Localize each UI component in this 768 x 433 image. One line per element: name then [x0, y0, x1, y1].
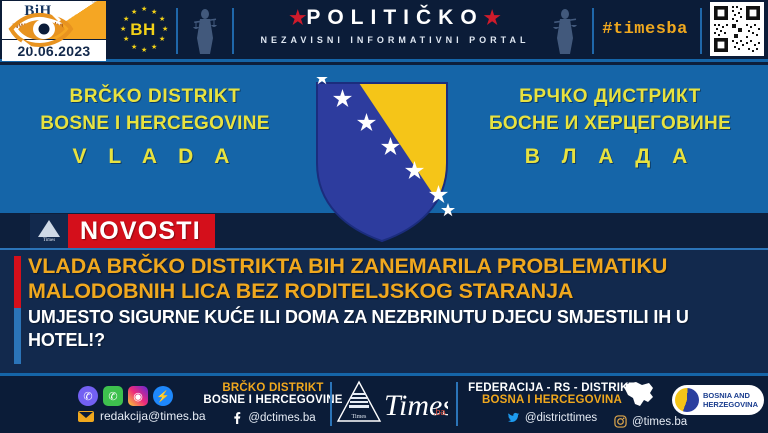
triangle-mark: [38, 220, 60, 237]
page-title: POLITIČKO: [306, 6, 483, 29]
envelope-icon: [78, 411, 94, 422]
times-logo-caption: Times: [43, 238, 55, 243]
gov-name-cyrillic: БРЧКО ДИСТРИКТ БОСНЕ И ХЕРЦЕГОВИНЕ В Л А…: [470, 83, 750, 173]
accent-bar-blue: [14, 308, 21, 364]
gov-name-latin: BRČKO DISTRIKT BOSNE I HERCEGOVINE V L A…: [20, 83, 290, 173]
eu-bh-emblem: ★ ★ ★ ★ ★ ★ ★ ★ ★ ★ ★ ★ BH: [118, 5, 168, 55]
country-pill-line2: HERZEGOVINA: [703, 400, 758, 409]
article-subheadline: UMJESTO SIGURNE KUĆE ILI DOMA ZA NEZBRIN…: [28, 306, 758, 352]
country-pill-text: BOSNIA AND HERZEGOVINA: [703, 391, 758, 409]
eye-logo-icon: [8, 8, 74, 50]
times-triangle-logo-icon: Times: [30, 214, 68, 248]
footer-divider: [456, 382, 458, 426]
instagram-icon: [614, 415, 627, 428]
footer-divider: [330, 382, 332, 426]
government-banner: BRČKO DISTRIKT BOSNE I HERCEGOVINE V L A…: [0, 65, 768, 213]
gov-cyrillic-line3: В Л А Д А: [470, 141, 750, 173]
messenger-icon[interactable]: ⚡: [153, 386, 173, 406]
eu-bh-label: BH: [118, 5, 168, 55]
bosnia-herzegovina-coat-of-arms: [309, 77, 455, 247]
footer-brcko-line2: BOSNE I HERCEGOVINE: [198, 394, 348, 406]
viber-icon[interactable]: ✆: [78, 386, 98, 406]
brand-subtitle: NEZAVISNI INFORMATIVNI PORTAL: [245, 35, 545, 45]
country-pill-line1: BOSNIA AND: [703, 391, 750, 400]
brand-title-block: ★POLITIČKO★ NEZAVISNI INFORMATIVNI PORTA…: [245, 6, 545, 45]
bosnia-map-icon: [620, 380, 660, 412]
article-headline-zone: VLADA BRČKO DISTRIKTA BIH ZANEMARILA PRO…: [0, 248, 768, 373]
twitter-handle: @districttimes: [525, 412, 597, 424]
svg-text:Times: Times: [384, 389, 448, 422]
svg-text:Times: Times: [352, 414, 367, 420]
bosnia-flag-circle-icon: [675, 388, 699, 412]
instagram-icon[interactable]: ◉: [128, 386, 148, 406]
country-pill-badge: BOSNIA AND HERZEGOVINA: [672, 385, 764, 415]
gov-latin-line3: V L A D A: [20, 141, 290, 173]
star-left-icon: ★: [289, 8, 306, 29]
facebook-handle-row[interactable]: @dctimes.ba: [198, 411, 348, 424]
footer-brcko-line1: BRČKO DISTRIKT: [198, 382, 348, 394]
news-graphic-page: ★★★★★★★★★ BiH www.times.ba 20.06.2023 ★ …: [0, 0, 768, 433]
article-headline: VLADA BRČKO DISTRIKTA BIH ZANEMARILA PRO…: [28, 254, 754, 304]
header-divider: [592, 8, 594, 54]
email-row[interactable]: redakcija@times.ba: [78, 409, 206, 423]
brand-title-row: ★POLITIČKO★: [245, 6, 545, 30]
justice-statue-icon: [548, 6, 582, 56]
gov-cyrillic-line2: БОСНЕ И ХЕРЦЕГОВИНЕ: [470, 110, 750, 137]
instagram-handle-row[interactable]: @times.ba: [614, 415, 687, 428]
email-address: redakcija@times.ba: [100, 409, 206, 423]
facebook-handle: @dctimes.ba: [248, 412, 315, 424]
footer-federacija-line2: BOSNA I HERCEGOVINA: [462, 394, 642, 406]
news-category-label: NOVOSTI: [68, 214, 215, 248]
facebook-icon: [230, 411, 243, 424]
social-icons-row[interactable]: ✆ ✆ ◉ ⚡: [78, 386, 173, 406]
news-category-badge[interactable]: Times NOVOSTI: [30, 214, 215, 248]
accent-bar: [14, 256, 21, 364]
instagram-handle: @times.ba: [632, 416, 687, 428]
gov-latin-line2: BOSNE I HERCEGOVINE: [20, 110, 290, 137]
top-header-bar: ★★★★★★★★★ BiH www.times.ba 20.06.2023 ★ …: [0, 0, 768, 62]
header-divider: [232, 8, 234, 54]
header-divider: [700, 8, 702, 54]
svg-text:.ba: .ba: [433, 407, 446, 417]
twitter-icon: [507, 411, 520, 424]
star-right-icon: ★: [484, 8, 501, 29]
qr-code-icon[interactable]: [710, 2, 764, 56]
header-divider: [176, 8, 178, 54]
footer-block-brcko: BRČKO DISTRIKT BOSNE I HERCEGOVINE @dcti…: [198, 382, 348, 424]
gov-cyrillic-line1: БРЧКО ДИСТРИКТ: [470, 83, 750, 110]
times-brand-logo: Times Times .ba: [336, 379, 448, 427]
hashtag-label: #timesba: [600, 20, 690, 39]
gov-latin-line1: BRČKO DISTRIKT: [20, 83, 290, 110]
justice-statue-icon: [188, 6, 222, 56]
accent-bar-red: [14, 256, 21, 308]
whatsapp-icon[interactable]: ✆: [103, 386, 123, 406]
footer-federacija-line1: FEDERACIJA - RS - DISTRIKT: [462, 382, 642, 394]
